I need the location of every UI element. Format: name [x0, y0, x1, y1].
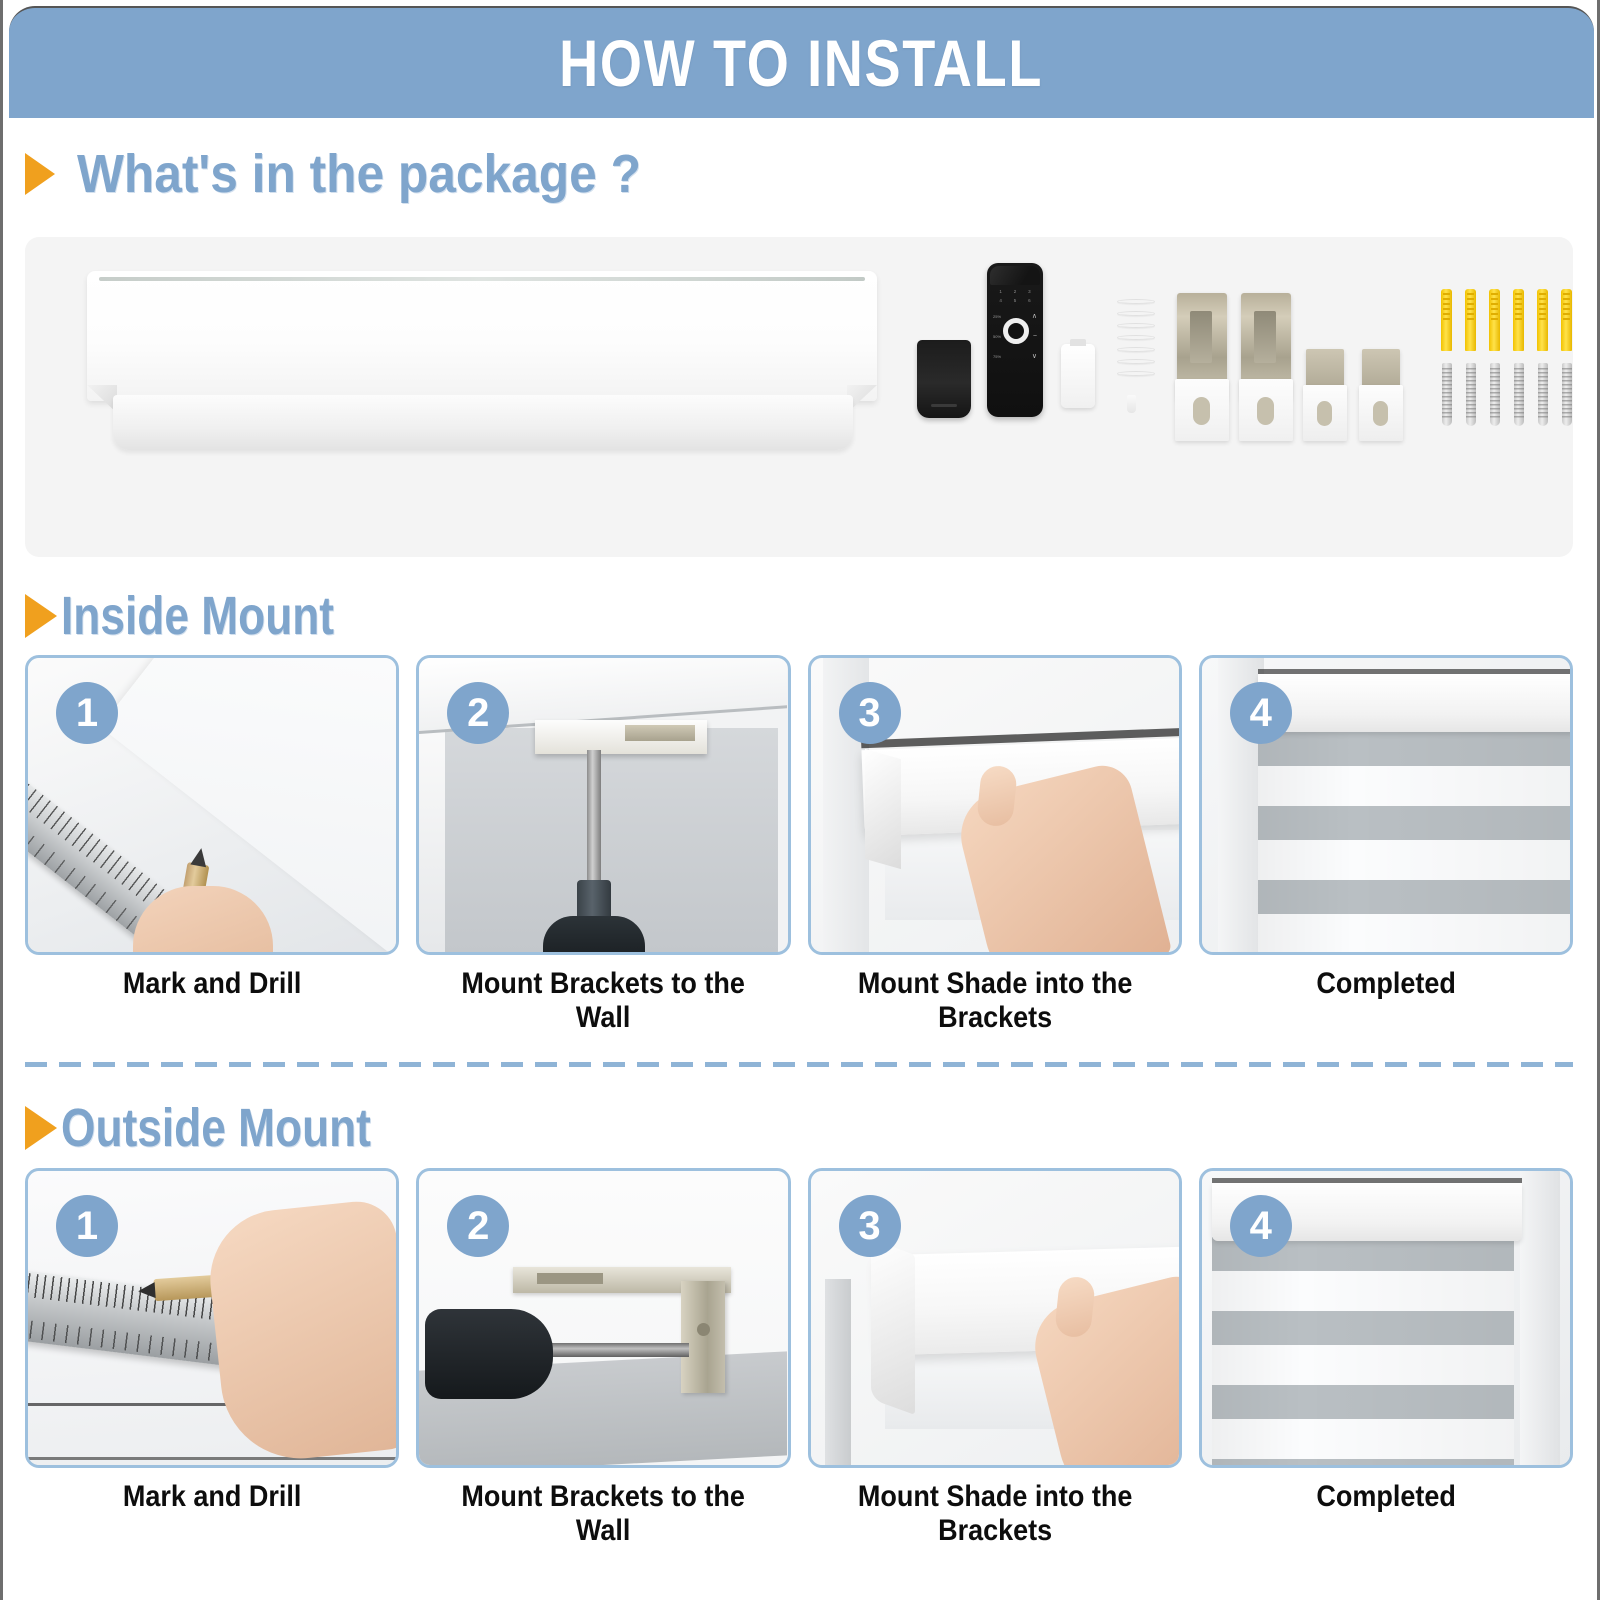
- screw: [1442, 363, 1452, 426]
- small-bracket: [1362, 349, 1400, 399]
- minus-icon[interactable]: −: [1033, 333, 1037, 340]
- drill-bit: [537, 1343, 689, 1357]
- package-heading-label: What's in the package ?: [77, 143, 641, 205]
- step-number-badge: 1: [56, 1195, 118, 1257]
- step-caption: Mount Shade into the Brackets: [826, 967, 1163, 1035]
- window-frame: [1520, 1171, 1560, 1465]
- shade-fabric-roll: [113, 395, 853, 450]
- step-image-mark-and-drill: 1: [25, 1168, 399, 1468]
- wall-anchor: [1489, 289, 1500, 351]
- triangle-right-icon: [25, 1106, 57, 1150]
- inside-mount-steps: 1 Mark and Drill 2 Mount Brackets to the…: [25, 655, 1573, 955]
- chevron-up-icon[interactable]: ∧: [1032, 313, 1037, 320]
- small-bracket: [1306, 349, 1344, 399]
- step-card[interactable]: 2 Mount Brackets to the Wall: [416, 1168, 790, 1468]
- triangle-right-icon: [25, 153, 55, 195]
- package-contents-panel: 1 2 3 4 5 6 25% 50% 75% ∧ − ∨: [25, 237, 1573, 557]
- outside-mount-heading: Outside Mount: [25, 1097, 439, 1159]
- step-card[interactable]: 4 Completed: [1199, 655, 1573, 955]
- remote-key[interactable]: 3: [1023, 288, 1036, 295]
- step-number-badge: 3: [839, 1195, 901, 1257]
- step-image-mount-shade: 3: [808, 655, 1182, 955]
- step-image-mount-brackets: 2: [416, 655, 790, 955]
- remote-key[interactable]: 5: [1008, 297, 1021, 304]
- remote-ring-button[interactable]: [1003, 318, 1029, 344]
- page-title: HOW TO INSTALL: [560, 25, 1044, 101]
- step-image-mount-brackets: 2: [416, 1168, 790, 1468]
- remote-control: 1 2 3 4 5 6 25% 50% 75% ∧ − ∨: [987, 263, 1043, 417]
- shade-headrail: [87, 271, 877, 401]
- step-card[interactable]: 3 Mount Shade into the Brackets: [808, 655, 1182, 955]
- cable-plug: [1127, 395, 1136, 413]
- step-number-badge: 3: [839, 682, 901, 744]
- wall-anchor: [1513, 289, 1524, 351]
- screw: [1490, 363, 1500, 426]
- remote-percent-label: 50%: [993, 334, 1001, 339]
- screw: [1466, 363, 1476, 426]
- shade-valance: [1258, 674, 1573, 732]
- wall-anchor: [1537, 289, 1548, 351]
- remote-key[interactable]: 6: [1023, 297, 1036, 304]
- zebra-blind-fabric: [1212, 1237, 1514, 1465]
- step-caption: Completed: [1217, 1480, 1554, 1514]
- wall-anchor: [1465, 289, 1476, 351]
- step-card[interactable]: 3 Mount Shade into the Brackets: [808, 1168, 1182, 1468]
- inside-mount-heading: Inside Mount: [25, 585, 394, 647]
- drill-bit: [587, 750, 601, 882]
- charging-cable: [1113, 295, 1159, 413]
- screw: [1514, 363, 1524, 426]
- step-caption: Mark and Drill: [44, 967, 381, 1001]
- remote-holder: [917, 340, 971, 418]
- wall-edge: [825, 1279, 851, 1468]
- zebra-roller-shade: [67, 257, 887, 472]
- wall-anchor: [1441, 289, 1452, 351]
- step-image-completed: 4: [1199, 655, 1573, 955]
- remote-percent-label: 25%: [993, 314, 1001, 319]
- step-image-mark-and-drill: 1: [25, 655, 399, 955]
- step-card[interactable]: 1 Mark and Drill: [25, 655, 399, 955]
- step-number-badge: 1: [56, 682, 118, 744]
- step-number-badge: 2: [447, 682, 509, 744]
- step-image-mount-shade: 3: [808, 1168, 1182, 1468]
- remote-key[interactable]: 1: [994, 288, 1007, 295]
- wall-anchor: [1561, 289, 1572, 351]
- headrail-end-cap: [871, 1239, 915, 1415]
- l-bracket: [681, 1281, 725, 1393]
- drill: [543, 916, 645, 955]
- remote-key[interactable]: 4: [994, 297, 1007, 304]
- large-bracket: [1241, 293, 1291, 401]
- step-number-badge: 4: [1230, 682, 1292, 744]
- drill: [425, 1309, 553, 1399]
- step-caption: Completed: [1217, 967, 1554, 1001]
- remote-key[interactable]: 2: [1008, 288, 1021, 295]
- step-number-badge: 4: [1230, 1195, 1292, 1257]
- remote-keypad: 1 2 3 4 5 6: [994, 288, 1036, 304]
- step-number-badge: 2: [447, 1195, 509, 1257]
- step-caption: Mount Brackets to the Wall: [435, 1480, 772, 1548]
- section-divider: [25, 1062, 1573, 1067]
- header-banner: HOW TO INSTALL: [9, 6, 1594, 118]
- bracket: [535, 720, 707, 754]
- step-card[interactable]: 2 Mount Brackets to the Wall: [416, 655, 790, 955]
- outside-mount-steps: 1 Mark and Drill 2 Mount Brackets to the…: [25, 1168, 1573, 1468]
- step-caption: Mount Brackets to the Wall: [435, 967, 772, 1035]
- step-caption: Mark and Drill: [44, 1480, 381, 1514]
- remote-screen: [990, 266, 1040, 285]
- inside-mount-label: Inside Mount: [61, 585, 334, 647]
- screw: [1538, 363, 1548, 426]
- triangle-right-icon: [25, 594, 57, 638]
- large-bracket: [1177, 293, 1227, 401]
- package-section-heading: What's in the package ?: [25, 143, 690, 205]
- step-card[interactable]: 4 Completed: [1199, 1168, 1573, 1468]
- usb-charger: [1061, 344, 1095, 408]
- remote-percent-label: 75%: [993, 354, 1001, 359]
- outside-mount-label: Outside Mount: [61, 1097, 371, 1159]
- step-image-completed: 4: [1199, 1168, 1573, 1468]
- step-caption: Mount Shade into the Brackets: [826, 1480, 1163, 1548]
- zebra-blind-fabric: [1258, 732, 1573, 952]
- chevron-down-icon[interactable]: ∨: [1032, 353, 1037, 360]
- step-card[interactable]: 1 Mark and Drill: [25, 1168, 399, 1468]
- screw: [1562, 363, 1572, 426]
